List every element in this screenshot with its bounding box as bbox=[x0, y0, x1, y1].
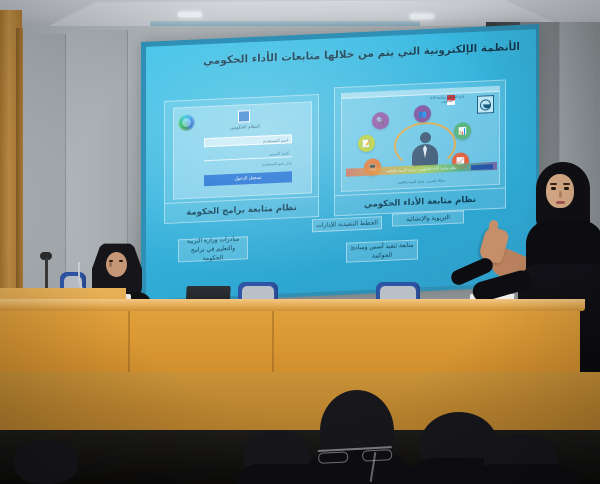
right-card-caption: نظام متابعة الأداء الحكومي bbox=[335, 188, 505, 216]
infographic-footer: مملكة البحرين - وزارة التربية والتعليم bbox=[346, 176, 497, 187]
slide-card-right: إدارة التخطيط ومتابعة الأداء الحكومي 🔍 👥… bbox=[334, 80, 506, 217]
annotation-executive-plans: الخطط التنفيذية للإدارات bbox=[312, 216, 382, 232]
presentation-scene: الأنظمة الإلكترونية التي يتم من خلالها م… bbox=[0, 0, 600, 484]
login-app-label: النظام الحكومي bbox=[214, 124, 276, 132]
ceiling-downlight-icon bbox=[178, 12, 202, 17]
podium-counter-top bbox=[0, 299, 585, 311]
login-submit-button[interactable]: تسجيل الدخول bbox=[204, 171, 292, 186]
slide-card-left: النظام الحكومي اسم المستخدم كلمة المرور … bbox=[164, 94, 319, 224]
audience-member bbox=[0, 440, 96, 484]
annotation-initiatives: مبادرات وزارة التربية والتعليم في برامج … bbox=[178, 236, 248, 262]
microsoft-tile-icon bbox=[238, 110, 250, 123]
left-card-caption: نظام متابعة برامج الحكومة bbox=[165, 196, 318, 223]
projection-screen: الأنظمة الإلكترونية التي يتم من خلالها م… bbox=[146, 29, 536, 300]
education-lamp-icon bbox=[477, 95, 494, 114]
audience-member bbox=[298, 390, 418, 484]
infographic-screenshot: إدارة التخطيط ومتابعة الأداء الحكومي 🔍 👥… bbox=[341, 86, 500, 192]
audience-member bbox=[470, 434, 580, 484]
annotation-educational: التربوية والإنشائية bbox=[392, 210, 464, 226]
bar-chart-bubble-icon: 📊 bbox=[454, 122, 471, 140]
username-field[interactable]: اسم المستخدم bbox=[204, 134, 292, 147]
edge-icon bbox=[178, 114, 195, 132]
document-bubble-icon: 📝 bbox=[358, 134, 375, 152]
person-figure-icon bbox=[412, 132, 438, 167]
infographic-progress-bar bbox=[471, 164, 493, 170]
ministry-logo-text: إدارة التخطيط ومتابعة الأداء الحكومي bbox=[425, 95, 469, 104]
annotation-governance: متابعة تنفيذ أسس ومبادئ الحوكمة bbox=[346, 240, 418, 263]
slide-title: الأنظمة الإلكترونية التي يتم من خلالها م… bbox=[160, 40, 520, 72]
remember-hint: تذكر اسم المستخدم bbox=[204, 161, 292, 169]
password-field[interactable]: كلمة المرور bbox=[204, 148, 292, 161]
wooden-wall-trim bbox=[16, 28, 23, 308]
ceiling-downlight-icon bbox=[410, 14, 434, 19]
infographic-topbar bbox=[342, 87, 499, 99]
search-bubble-icon: 🔍 bbox=[372, 112, 389, 130]
podium-front-panel bbox=[0, 300, 580, 382]
people-bubble-icon: 👥 bbox=[414, 105, 431, 123]
login-screenshot: النظام الحكومي اسم المستخدم كلمة المرور … bbox=[173, 101, 312, 199]
